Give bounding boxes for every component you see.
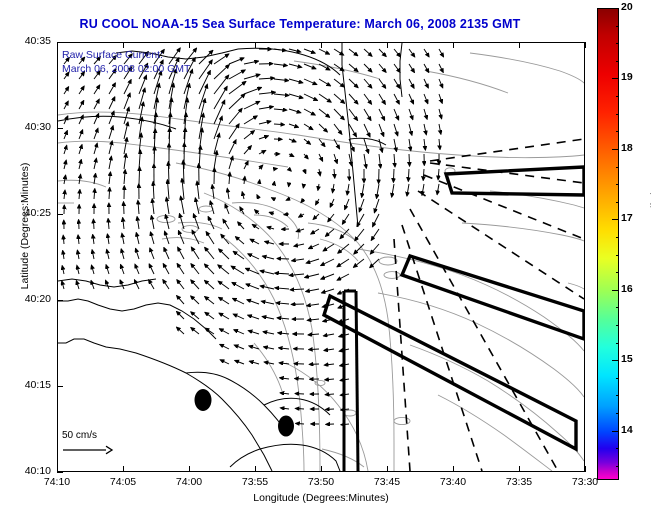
colorbar-minor-tick bbox=[616, 96, 619, 97]
x-axis-tick-mark-top bbox=[585, 42, 586, 48]
colorbar-tick-label: 20 bbox=[621, 1, 633, 13]
station-marker bbox=[195, 389, 212, 411]
colorbar-minor-tick bbox=[616, 431, 619, 432]
colorbar-minor-tick bbox=[616, 219, 619, 220]
colorbar-minor-tick bbox=[616, 202, 619, 203]
x-axis-tick-mark-top bbox=[453, 42, 454, 48]
x-axis-tick-label: 74:00 bbox=[167, 476, 211, 488]
colorbar-tick-mark bbox=[612, 8, 619, 9]
y-axis-tick-mark bbox=[57, 128, 63, 129]
x-axis-tick-mark-top bbox=[255, 42, 256, 48]
colorbar-minor-tick bbox=[616, 61, 619, 62]
colorbar-minor-tick bbox=[616, 149, 619, 150]
colorbar-minor-tick bbox=[616, 272, 619, 273]
colorbar-tick-label: 16 bbox=[621, 283, 633, 295]
colorbar-tick-label: 15 bbox=[621, 353, 633, 365]
station-markers bbox=[195, 389, 295, 437]
colorbar-minor-tick bbox=[616, 78, 619, 79]
figure-canvas: RU COOL NOAA-15 Sea Surface Temperature:… bbox=[0, 0, 651, 518]
x-axis-tick-label: 73:50 bbox=[299, 476, 343, 488]
x-axis-tick-label: 74:05 bbox=[101, 476, 145, 488]
colorbar-minor-tick bbox=[616, 167, 619, 168]
x-axis-tick-mark bbox=[387, 466, 388, 472]
x-axis-tick-label: 73:55 bbox=[233, 476, 277, 488]
x-axis-tick-mark bbox=[585, 466, 586, 472]
colorbar-minor-tick bbox=[616, 26, 619, 27]
x-axis-tick-label: 73:45 bbox=[365, 476, 409, 488]
y-axis-tick-label: 40:15 bbox=[5, 379, 51, 391]
shipping-corridor-polygons bbox=[324, 167, 584, 449]
colorbar-minor-tick bbox=[616, 237, 619, 238]
x-axis-tick-mark bbox=[123, 466, 124, 472]
x-axis-tick-mark bbox=[453, 466, 454, 472]
x-axis-tick-mark-top bbox=[189, 42, 190, 48]
plot-area[interactable] bbox=[57, 42, 585, 472]
y-axis-tick-mark bbox=[57, 300, 63, 301]
current-vector-arrows bbox=[62, 48, 444, 425]
colorbar-minor-tick bbox=[616, 325, 619, 326]
x-axis-tick-mark-top bbox=[387, 42, 388, 48]
x-axis-tick-label: 74:10 bbox=[35, 476, 79, 488]
x-axis-tick-mark bbox=[255, 466, 256, 472]
x-axis-tick-mark bbox=[519, 466, 520, 472]
x-axis-tick-label: 73:30 bbox=[563, 476, 607, 488]
colorbar-tick-label: 18 bbox=[621, 142, 633, 154]
colorbar-minor-tick bbox=[616, 413, 619, 414]
y-axis-title: Latitude (Degrees:Minutes) bbox=[19, 101, 31, 351]
colorbar-tick-label: 17 bbox=[621, 212, 633, 224]
y-axis-tick-label: 40:25 bbox=[5, 207, 51, 219]
colorbar-minor-tick bbox=[616, 378, 619, 379]
x-axis-tick-mark-top bbox=[519, 42, 520, 48]
colorbar-minor-tick bbox=[616, 343, 619, 344]
colorbar-minor-tick bbox=[616, 307, 619, 308]
colorbar-minor-tick bbox=[616, 43, 619, 44]
y-axis-tick-label: 40:20 bbox=[5, 293, 51, 305]
colorbar-minor-tick bbox=[616, 131, 619, 132]
colorbar-gradient bbox=[598, 9, 618, 479]
y-axis-tick-mark bbox=[57, 472, 63, 473]
colorbar-tick-label: 19 bbox=[621, 71, 633, 83]
x-axis-tick-label: 73:40 bbox=[431, 476, 475, 488]
x-axis-tick-label: 73:35 bbox=[497, 476, 541, 488]
y-axis-tick-mark bbox=[57, 214, 63, 215]
chart-title: RU COOL NOAA-15 Sea Surface Temperature:… bbox=[0, 17, 600, 31]
colorbar-minor-tick bbox=[616, 448, 619, 449]
colorbar-minor-tick bbox=[616, 466, 619, 467]
colorbar-minor-tick bbox=[616, 360, 619, 361]
station-marker bbox=[278, 416, 294, 437]
surface-current-vectors bbox=[62, 48, 444, 425]
x-axis-title: Longitude (Degrees:Minutes) bbox=[57, 492, 585, 504]
x-axis-tick-mark-top bbox=[321, 42, 322, 48]
colorbar-tick-label: 14 bbox=[621, 424, 633, 436]
y-axis-tick-label: 40:35 bbox=[5, 35, 51, 47]
y-axis-tick-mark bbox=[57, 386, 63, 387]
colorbar-minor-tick bbox=[616, 184, 619, 185]
x-axis-tick-mark-top bbox=[123, 42, 124, 48]
bathymetry-contours bbox=[58, 53, 584, 471]
colorbar-minor-tick bbox=[616, 114, 619, 115]
x-axis-tick-mark bbox=[321, 466, 322, 472]
x-axis-tick-mark bbox=[57, 466, 58, 472]
colorbar-minor-tick bbox=[616, 255, 619, 256]
colorbar-minor-tick bbox=[616, 290, 619, 291]
corridor-vertical bbox=[344, 291, 358, 471]
colorbar-minor-tick bbox=[616, 395, 619, 396]
y-axis-tick-label: 40:30 bbox=[5, 121, 51, 133]
x-axis-tick-mark-top bbox=[57, 42, 58, 48]
plot-graphics bbox=[58, 43, 584, 471]
x-axis-tick-mark bbox=[189, 466, 190, 472]
